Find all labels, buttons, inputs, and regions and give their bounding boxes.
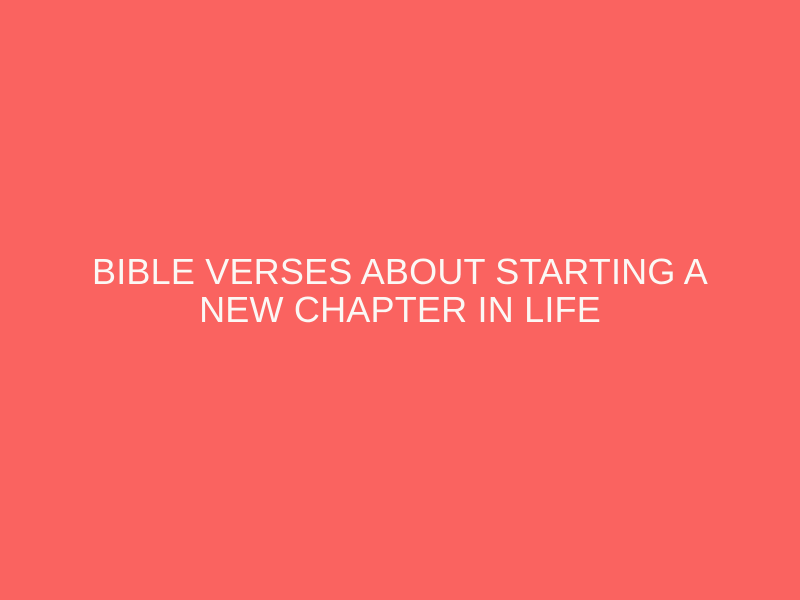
page-title: BIBLE VERSES ABOUT STARTING A NEW CHAPTE… <box>0 253 800 329</box>
featured-image-banner: BIBLE VERSES ABOUT STARTING A NEW CHAPTE… <box>0 0 800 600</box>
